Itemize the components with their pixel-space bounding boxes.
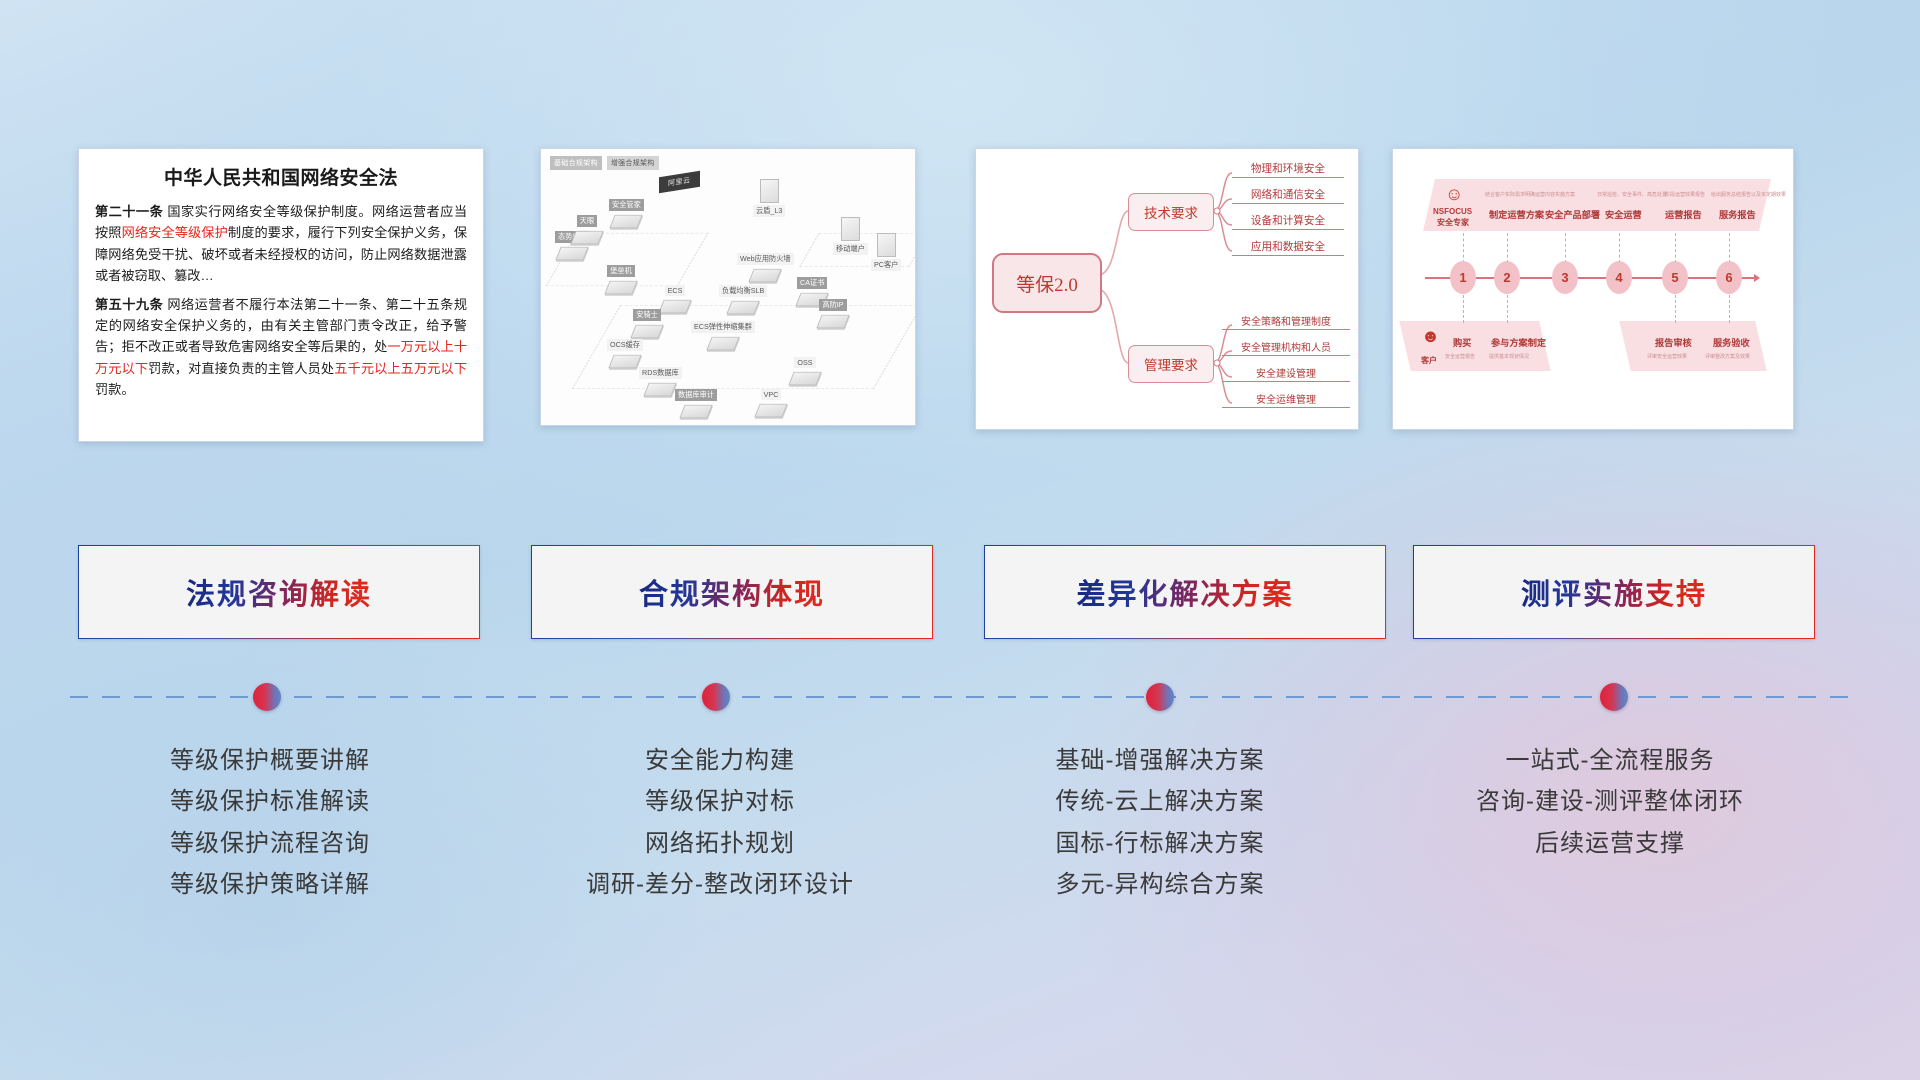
- flow-step-1: 1: [1450, 261, 1476, 294]
- flow-connector: [1729, 233, 1730, 263]
- list-item: 调研-差分-整改闭环设计: [500, 864, 940, 905]
- tag-enhanced-compliance: 增强合规架构: [607, 156, 659, 170]
- flow-step-5: 5: [1662, 261, 1688, 294]
- flow-connector: [1675, 233, 1676, 263]
- flow-top-title-3: 安全运营: [1605, 207, 1642, 221]
- flow-step-3: 3: [1552, 261, 1578, 294]
- card-cloud-architecture: 基础合规架构 增强合规架构 阿里云 态势感知 天眼 安全管家 堡垒机: [540, 148, 916, 426]
- flow-connector: [1675, 295, 1676, 323]
- server-icon: [760, 179, 779, 203]
- flow-customer-label: 客户: [1421, 355, 1437, 366]
- flow-band-provider: [1423, 179, 1771, 231]
- flow-bottom-sub-1: 安全运营报告: [1445, 353, 1475, 360]
- mindmap-leaf-operation: 安全运维管理: [1222, 391, 1350, 408]
- law-article-21: 第二十一条 国家实行网络安全等级保护制度。网络运营者应当按照网络安全等级保护制度…: [95, 201, 467, 287]
- list-item: 一站式-全流程服务: [1390, 740, 1830, 781]
- cube-icon: [644, 383, 677, 396]
- cube-icon: [610, 215, 643, 228]
- mindmap-leaf-physical: 物理和环境安全: [1232, 161, 1344, 178]
- law-article-59-label: 第五十九条: [95, 297, 163, 312]
- cube-icon: [570, 231, 603, 244]
- list-item: 多元-异构综合方案: [940, 864, 1380, 905]
- list-item: 等级保护概要讲解: [50, 740, 490, 781]
- detail-list-compliance-architecture: 安全能力构建 等级保护对标 网络拓扑规划 调研-差分-整改闭环设计: [500, 740, 940, 905]
- mindmap-root: 等保2.0: [992, 253, 1102, 313]
- flow-top-sub-4: 阶段运营效果报告: [1665, 191, 1705, 198]
- law-article-59-text-b: 罚款，对直接负责的主管人员处: [148, 361, 334, 376]
- timeline-dashed-line: [70, 695, 1850, 698]
- server-icon: [841, 217, 860, 241]
- flow-step-6: 6: [1716, 261, 1742, 294]
- node-mobile-client: 移动端户: [833, 217, 868, 255]
- node-vpc: VPC: [757, 389, 785, 419]
- flow-top-title-4: 运营报告: [1665, 207, 1702, 221]
- cube-icon: [749, 269, 782, 282]
- image-card-row: 中华人民共和国网络安全法 第二十一条 国家实行网络安全等级保护制度。网络运营者应…: [0, 148, 1920, 443]
- list-item: 后续运营支撑: [1390, 823, 1830, 864]
- node-pc-client: PC客户: [871, 233, 901, 271]
- section-header-label: 测评实施支持: [1521, 571, 1707, 613]
- card-network-security-law: 中华人民共和国网络安全法 第二十一条 国家实行网络安全等级保护制度。网络运营者应…: [78, 148, 484, 442]
- section-header-row: 法规咨询解读 合规架构体现 差异化解决方案 测评实施支持: [0, 545, 1920, 645]
- flow-expert-role: 安全专家: [1437, 217, 1469, 228]
- flow-bottom-sub-4: 评审整改方案及效果: [1705, 353, 1750, 360]
- flow-bottom-title-4: 服务验收: [1713, 335, 1750, 349]
- cube-icon: [679, 405, 712, 418]
- flow-connector: [1463, 295, 1464, 323]
- flow-top-title-2: 安全产品部署: [1545, 207, 1600, 221]
- cube-icon: [608, 355, 641, 368]
- flow-connector: [1565, 233, 1566, 263]
- flow-top-sub-3: 日常巡检、安全事件、高危处置: [1597, 191, 1667, 198]
- section-header-differentiated-solution[interactable]: 差异化解决方案: [984, 545, 1386, 639]
- mindmap-leaf-org: 安全管理机构和人员: [1222, 339, 1350, 356]
- node-security-butler: 安全管家: [609, 199, 644, 230]
- flow-bottom-title-3: 报告审核: [1655, 335, 1692, 349]
- list-item: 咨询-建设-测评整体闭环: [1390, 781, 1830, 822]
- flow-connector: [1463, 233, 1464, 263]
- node-anqishi: 安骑士: [633, 309, 661, 340]
- node-waf: Web应用防火墙: [737, 253, 794, 284]
- law-article-59-highlight-2: 五千元以上五万元以下: [334, 361, 467, 376]
- cube-icon: [604, 281, 637, 294]
- node-bastion-host: 堡垒机: [607, 265, 635, 296]
- mindmap-branch-technical: 技术要求: [1128, 193, 1214, 231]
- flow-expert-brand: NSFOCUS: [1433, 207, 1472, 216]
- node-ecs: ECS: [661, 285, 689, 315]
- node-cloud-shield-l3: 云盾_L3: [753, 179, 785, 217]
- detail-list-differentiated-solution: 基础-增强解决方案 传统-云上解决方案 国标-行标解决方案 多元-异构综合方案: [940, 740, 1380, 905]
- law-article-21-highlight: 网络安全等级保护: [122, 225, 228, 240]
- flow-connector: [1507, 295, 1508, 323]
- flow-step-4: 4: [1606, 261, 1632, 294]
- mindmap-leaf-device: 设备和计算安全: [1232, 213, 1344, 230]
- cloud-architecture-diagram: 基础合规架构 增强合规架构 阿里云 态势感知 天眼 安全管家 堡垒机: [541, 149, 915, 425]
- mindmap-leaf-application: 应用和数据安全: [1232, 239, 1344, 256]
- section-header-label: 差异化解决方案: [1076, 571, 1293, 613]
- node-skyeye: 天眼: [573, 215, 601, 246]
- law-article-21-label: 第二十一条: [95, 204, 163, 219]
- cube-icon: [658, 300, 691, 313]
- flow-connector: [1729, 295, 1730, 323]
- flow-bottom-sub-2: 提供基本现状情况: [1489, 353, 1529, 360]
- cloud-provider-label: 阿里云: [659, 171, 700, 193]
- card-nsfocus-service-flow: ☺ NSFOCUS 安全专家 结合客户实际需求明确运营内容 制定运营方案 实施方…: [1392, 148, 1794, 430]
- detail-list-assessment-support: 一站式-全流程服务 咨询-建设-测评整体闭环 后续运营支撑: [1390, 740, 1830, 864]
- flow-top-sub-1: 结合客户实际需求明确运营内容: [1485, 191, 1555, 198]
- cube-icon: [816, 315, 849, 328]
- node-ocs-cache: OCS缓存: [607, 339, 643, 370]
- section-header-label: 法规咨询解读: [186, 571, 372, 613]
- flow-top-title-1: 制定运营方案: [1489, 207, 1544, 221]
- flow-bottom-sub-3: 评审安全运营效果: [1647, 353, 1687, 360]
- flow-top-title-5: 服务报告: [1719, 207, 1756, 221]
- flow-bottom-title-1: 购买: [1453, 335, 1471, 349]
- tag-basic-compliance: 基础合规架构: [550, 156, 602, 170]
- flow-bottom-title-2: 参与方案制定: [1491, 335, 1546, 349]
- expert-person-icon: ☺: [1445, 185, 1463, 203]
- mindmap-leaf-construction: 安全建设管理: [1222, 365, 1350, 382]
- section-header-assessment-support[interactable]: 测评实施支持: [1413, 545, 1815, 639]
- flow-top-sub-2: 实施方案: [1555, 191, 1575, 198]
- cube-icon: [556, 247, 589, 260]
- mindmap: 等保2.0 技术要求 管理要求 物理和环境安全 网络和通信安全 设备和计算安全 …: [976, 149, 1358, 429]
- service-flow-diagram: ☺ NSFOCUS 安全专家 结合客户实际需求明确运营内容 制定运营方案 实施方…: [1393, 149, 1793, 429]
- section-header-regulation-consulting[interactable]: 法规咨询解读: [78, 545, 480, 639]
- server-icon: [877, 233, 896, 257]
- law-article-59: 第五十九条 网络运营者不履行本法第二十一条、第二十五条规定的网络安全保护义务的，…: [95, 294, 467, 401]
- slide-canvas: 中华人民共和国网络安全法 第二十一条 国家实行网络安全等级保护制度。网络运营者应…: [0, 0, 1920, 1080]
- flow-top-sub-5: 给出服务总结报告以及本定期效果: [1711, 191, 1786, 198]
- detail-list-regulation-consulting: 等级保护概要讲解 等级保护标准解读 等级保护流程咨询 等级保护策略详解: [50, 740, 490, 905]
- node-anti-ddos-ip: 高防IP: [819, 299, 847, 330]
- law-article-59-text-c: 罚款。: [95, 382, 135, 397]
- timeline-dot-4: [1600, 683, 1628, 711]
- section-header-label: 合规架构体现: [639, 571, 825, 613]
- mindmap-branch-management: 管理要求: [1128, 345, 1214, 383]
- flow-step-2: 2: [1494, 261, 1520, 294]
- list-item: 基础-增强解决方案: [940, 740, 1380, 781]
- law-title: 中华人民共和国网络安全法: [95, 163, 467, 190]
- flow-connector: [1507, 233, 1508, 263]
- cube-icon: [706, 337, 739, 350]
- node-database-audit: 数据库审计: [675, 389, 717, 420]
- law-document: 中华人民共和国网络安全法 第二十一条 国家实行网络安全等级保护制度。网络运营者应…: [79, 149, 483, 441]
- list-item: 安全能力构建: [500, 740, 940, 781]
- node-oss: OSS: [791, 357, 819, 387]
- section-header-compliance-architecture[interactable]: 合规架构体现: [531, 545, 933, 639]
- mindmap-leaf-policy: 安全策略和管理制度: [1222, 313, 1350, 330]
- timeline-dot-3: [1146, 683, 1174, 711]
- list-item: 等级保护策略详解: [50, 864, 490, 905]
- list-item: 等级保护标准解读: [50, 781, 490, 822]
- cube-icon: [630, 325, 663, 338]
- list-item: 传统-云上解决方案: [940, 781, 1380, 822]
- timeline-dot-2: [702, 683, 730, 711]
- card-mindmap-dengbao: 等保2.0 技术要求 管理要求 物理和环境安全 网络和通信安全 设备和计算安全 …: [975, 148, 1359, 430]
- timeline-dot-1: [253, 683, 281, 711]
- architecture-tag-row: 基础合规架构 增强合规架构: [550, 156, 659, 170]
- flow-connector: [1619, 233, 1620, 263]
- list-item: 网络拓扑规划: [500, 823, 940, 864]
- cube-icon: [788, 372, 821, 385]
- node-slb: 负载均衡SLB: [719, 285, 767, 316]
- list-item: 国标-行标解决方案: [940, 823, 1380, 864]
- list-item: 等级保护对标: [500, 781, 940, 822]
- customer-person-icon: ☻: [1421, 327, 1440, 345]
- mindmap-leaf-network: 网络和通信安全: [1232, 187, 1344, 204]
- node-ecs-scaling-group: ECS弹性伸缩集群: [691, 321, 755, 352]
- list-item: 等级保护流程咨询: [50, 823, 490, 864]
- cube-icon: [726, 301, 759, 314]
- detail-list-row: 等级保护概要讲解 等级保护标准解读 等级保护流程咨询 等级保护策略详解 安全能力…: [0, 740, 1920, 970]
- cube-icon: [754, 404, 787, 417]
